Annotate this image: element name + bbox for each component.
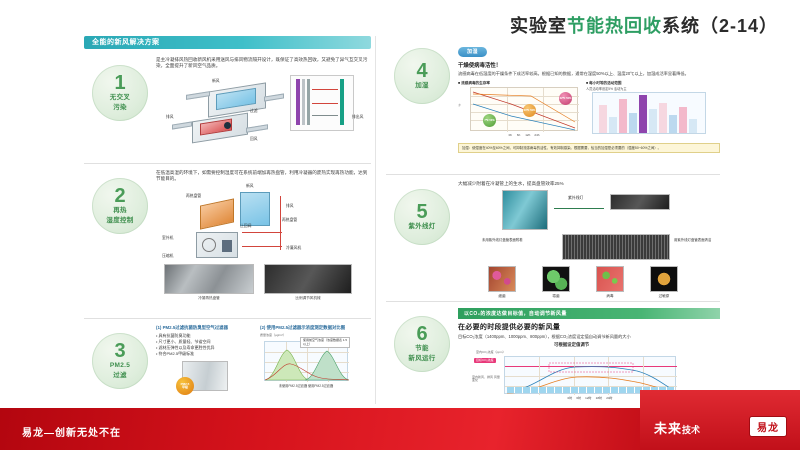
feature-caption-1-line1: 无交叉 [110,94,130,102]
pm25-subtitle-1: (1) PM2.5过滤抗菌防臭型空气过滤器 [156,325,254,331]
label-condenser-fan: 冷凝风机 [286,246,301,251]
reheat-ahu-blue [240,192,270,226]
photo-coil-surface [562,234,670,260]
feature-number-5: 5 [416,203,427,221]
co2-xtick-4: 24时 [606,396,612,400]
footer-right-block: 未来技术 易龙 [640,390,800,450]
schematic-arrow-2 [312,103,338,104]
feature-badge-3: 3 PM2.5 过滤 [92,333,148,389]
photo-caption-2: 比例调节风机械 [264,296,352,301]
badge-column-3: 3 PM2.5 过滤 [84,321,156,409]
footer-future-tech: 未来技术 [654,418,700,438]
co2-series-label: 室内新风、排风 风量变化 [472,376,502,383]
schematic-arrow-3 [312,115,338,116]
divider-3 [386,174,720,175]
pm25-chart-caption: 未使用PM2.5过滤器 使用PM2.5过滤器 [264,383,348,388]
feature-caption-5-line1: 紫外线灯 [408,223,435,231]
feature-number-3: 3 [114,342,125,360]
duct-supply-in [186,92,210,101]
divider-2 [84,318,371,319]
micro-caption-4: 过敏原 [650,294,678,299]
photo-microbe-virus [596,266,624,292]
micro-caption-1: 细菌 [488,294,516,299]
refrigerant-riser [280,196,281,250]
footer-slogan: 易龙—创新无处不在 [22,424,121,439]
reheat-coil-block [200,199,234,230]
feature-body-1: 是主冷凝排风热回收新风机采用送风与排风物流隔开设计，既保证了高效热回收，又避免了… [156,53,371,161]
pm25-subtitle-2: (2) 使用PM2.5过滤器示浓度测定数据对比图 [260,325,371,331]
refrigerant-line-2 [242,246,282,247]
co2-xtick-0: 0时 [567,396,572,400]
feature-number-6: 6 [416,325,427,343]
co2-xtick-1: 6时 [576,396,581,400]
pm25-chart-ylabel: 质量浓度（μg/m³） [260,333,286,337]
humidify-chart-left-title: ■ 流感病毒的生存率 [458,81,580,86]
left-panel-header-bar: 全能的新风解决方案 [84,36,371,49]
uv-description: 大幅减少附着在冷凝管上的生水，提高盘管效率25% [458,181,720,187]
right-panel: 4 加湿 加湿 干燥使病毒活性！ 流感病毒在低湿度的干燥条件下成活率较高。根据已… [376,36,720,404]
label-exhaust-air: 排风 [166,115,174,120]
title-prefix: 实验室 [510,16,567,36]
humidify-chart-right-legend: 人员活动率设定5% 活动为主 [586,86,720,91]
label-check-valve: 止回阀 [240,224,251,229]
feature-2-diagram: 新风 排风 再热盘管 再热盘管 止回阀 室外机 压缩机 冷凝风机 [156,182,371,264]
virus-dot-2: 20℃ 50% [523,104,536,117]
co2-chart-ylabel: 室内CO₂浓度（ppm） [476,350,506,354]
co2-banner: 以CO₂的浓度达做目标值，自动调节新风量 [458,308,720,319]
feature-1-diagram: 新风 排风 过滤 排出风 回风 [156,69,371,145]
co2-target-badge: 目标CO₂浓度 [474,358,496,363]
feature-caption-2-line1: 再热 [113,207,127,215]
uv-micro-row: 细菌 霉菌 病毒 过敏原 [458,266,720,306]
pm25-bullet-4-text: 符合PM2.5甲级标准 [159,351,195,356]
humidify-pill-label: 加湿 [458,47,487,57]
photo-condenser-reheat-coil [164,264,254,294]
feature-body-4: 加湿 干燥使病毒活性！ 流感病毒在低湿度的干燥条件下成活率较高。根据已知的数据，… [458,36,720,172]
duct-exhaust-out [246,125,268,133]
feature-number-1: 1 [114,74,125,92]
micro-caption-3: 病毒 [596,294,624,299]
feature-body-5: 大幅减少附着在冷凝管上的生水，提高盘管效率25% 紫外线灯 未用紫外线灯盘管表面… [458,177,720,299]
photo-microbe-mold [542,266,570,292]
feature-2-photos: 冷凝再热盘管 比例调节风机械 [156,264,371,308]
humidify-description: 流感病毒在低湿度的干燥条件下成活率较高。根据已知的数据，通常在湿度50%以上、温… [458,71,720,77]
feature-caption-2-line2: 湿度控制 [106,217,133,225]
photo-microbe-allergen [650,266,678,292]
photo-caption-1: 冷凝再热盘管 [164,296,254,301]
photo-uv-install [502,190,548,230]
co2-head: 在必要的时段提供必要的新风量 [458,322,720,332]
photo-modulating-fan [264,264,352,294]
uv-label-without: 未用紫外线灯盘管表面附着 [482,238,558,242]
title-accent: 节能热回收 [567,16,662,36]
humidify-bottom-note: 加湿：使湿度在40%至60%之间，可抑制流感病毒的活性，有效抑制感染。根据需要，… [458,143,720,153]
compressor [222,240,232,252]
badge-column-2: 2 再热 湿度控制 [84,166,156,316]
footer-left-bar: 易龙—创新无处不在 [0,408,660,450]
feature-badge-1: 1 无交叉 污染 [92,65,148,121]
activity-range-chart [586,92,720,142]
left-panel: 全能的新风解决方案 1 无交叉 污染 是主冷凝排风热回收新风机采用送风与排风物流… [84,36,376,404]
feature-body-6: 以CO₂的浓度达做目标值，自动调节新风量 在必要的时段提供必要的新风量 目标CO… [458,304,720,404]
feature-description-2: 在低温高湿的环境下，如需要控制湿度可在系统前端加再热盘管，利用冷凝器的废热实现再… [156,170,371,182]
feature-block-1: 1 无交叉 污染 是主冷凝排风热回收新风机采用送风与排风物流隔开设计，既保证了高… [84,53,371,161]
page-title: 实验室节能热回收系统（2-14） [510,12,778,38]
feature-caption-6-line2: 新风运行 [408,355,435,363]
divider-1 [84,163,371,164]
virus-chart-plot: 7℃ 50% 20℃ 50% 32℃ 50% [470,87,578,131]
pm25-chart-note: 使用前空气浓度（浓度数据表 1.5 以上） [300,337,350,348]
filter-badge-stamp: PM2.5甲级 [176,377,194,395]
micro-caption-2: 霉菌 [542,294,570,299]
label-return-air: 回风 [250,137,258,142]
schematic-band-purple [296,79,300,125]
feature-badge-5: 5 紫外线灯 [394,189,450,245]
humidify-head: 干燥使病毒活性！ [458,61,720,69]
schematic-band-gray2 [307,79,310,125]
co2-xtick-2: 12时 [585,396,591,400]
feature-badge-2: 2 再热 湿度控制 [92,178,148,234]
photo-microbe-bacteria [488,266,516,292]
label-reheat-coil-2: 再热盘管 [282,218,297,223]
feature-block-6: 6 节能 新风运行 以CO₂的浓度达做目标值，自动调节新风量 在必要的时段提供必… [386,304,720,404]
label-discharge-air: 排出风 [352,115,363,120]
feature-badge-4: 4 加湿 [394,48,450,104]
schematic-arrow-1 [312,89,338,90]
label-exhaust-air-2: 排风 [286,204,294,209]
co2-description: 目标CO₂浓度（1400ppm、1000ppm、800ppm），根据CO₂浓度设… [458,334,720,340]
co2-xtick-3: 18时 [596,396,602,400]
feature-block-2: 2 再热 湿度控制 在低温高湿的环境下，如需要控制湿度可在系统前端加再热盘管，利… [84,166,371,316]
virus-dot-3: 32℃ 50% [559,92,572,105]
schematic-band-gray1 [302,79,305,125]
feature-description-1: 是主冷凝排风热回收新风机采用送风与排风物流隔开设计，既保证了高效热回收，又避免了… [156,57,371,69]
footer-future-big: 未来 [654,421,682,436]
virus-survival-chart: 7℃ 50% 20℃ 50% 32℃ 50% % 0h 6h 12h 24h [458,87,580,141]
feature-caption-1-line2: 污染 [113,104,127,112]
pm25-bullet-4: • 符合PM2.5甲级标准 [156,351,254,357]
photo-uv-lamp [610,194,670,210]
pm25-bullet-1-text: 具有抗菌防臭功能 [159,333,191,338]
brand-badge: 易龙 [750,417,786,436]
feature-caption-3-line1: PM2.5 [110,362,130,370]
refrigerant-line-1 [242,232,282,233]
schematic-band-teal [340,79,344,125]
co2-chart-plot [504,356,676,394]
feature-block-4: 4 加湿 加湿 干燥使病毒活性！ 流感病毒在低湿度的干燥条件下成活率较高。根据已… [386,36,720,172]
feature-block-5: 5 紫外线灯 大幅减少附着在冷凝管上的生水，提高盘管效率25% 紫外线灯 未用紫… [386,177,720,299]
co2-chart-title: 可根据设定值调节 [554,342,589,348]
feature-number-4: 4 [416,62,427,80]
badge-column-5: 5 紫外线灯 [386,177,458,299]
activity-chart-plot [592,92,706,134]
pm25-comparison-chart: 质量浓度（μg/m³） [260,333,371,391]
pm25-bullet-3-text: 滤材压弹性以及寿命更胜性优异 [159,345,215,350]
label-outdoor-unit: 室外机 [162,236,173,241]
badge-column-4: 4 加湿 [386,36,458,172]
badge-column-6: 6 节能 新风运行 [386,304,458,404]
title-suffix: 系统（2-14） [662,16,778,36]
label-fresh-air: 新风 [212,79,220,84]
uv-label-lamp: 紫外线灯 [568,196,583,201]
feature-caption-6-line1: 节能 [415,345,429,353]
footer-future-small: 技术 [682,425,700,435]
label-fresh-air-2: 新风 [246,184,254,189]
label-reheat-coil-1: 再热盘管 [186,194,201,199]
virus-dot-1: 7℃ 50% [483,114,496,127]
badge-column-1: 1 无交叉 污染 [84,53,156,161]
duct-supply-out [264,94,284,102]
slide-content: 全能的新风解决方案 1 无交叉 污染 是主冷凝排风热回收新风机采用送风与排风物流… [84,36,720,404]
feature-body-3: (1) PM2.5过滤抗菌防臭型空气过滤器 • 具有抗菌防臭功能 • 尺寸更小、… [156,321,371,409]
feature-caption-4-line1: 加湿 [415,82,429,90]
feature-badge-6: 6 节能 新风运行 [394,316,450,372]
pm25-bullet-2-text: 尺寸更小、质量轻、节省空间 [159,339,211,344]
feature-body-2: 在低温高湿的环境下，如需要控制湿度可在系统前端加再热盘管，利用冷凝器的废热实现再… [156,166,371,316]
feature-number-2: 2 [114,187,125,205]
label-filter: 过滤 [250,109,258,114]
filter-photo-group: PM2.5甲级 [156,359,254,395]
uv-top-row: 紫外线灯 [458,190,720,234]
label-compressor: 压缩机 [162,254,173,259]
uv-label-with: 用紫外线灯盘管表面清洁 [674,238,734,242]
feature-block-3: 3 PM2.5 过滤 (1) PM2.5过滤抗菌防臭型空气过滤器 • 具有抗菌防… [84,321,371,409]
duct-return-in [172,122,192,130]
uv-arrow-1 [554,208,604,209]
uv-coil-row: 未用紫外线灯盘管表面附着 用紫外线灯盘管表面清洁 [458,234,720,264]
feature-caption-3-line2: 过滤 [113,372,127,380]
